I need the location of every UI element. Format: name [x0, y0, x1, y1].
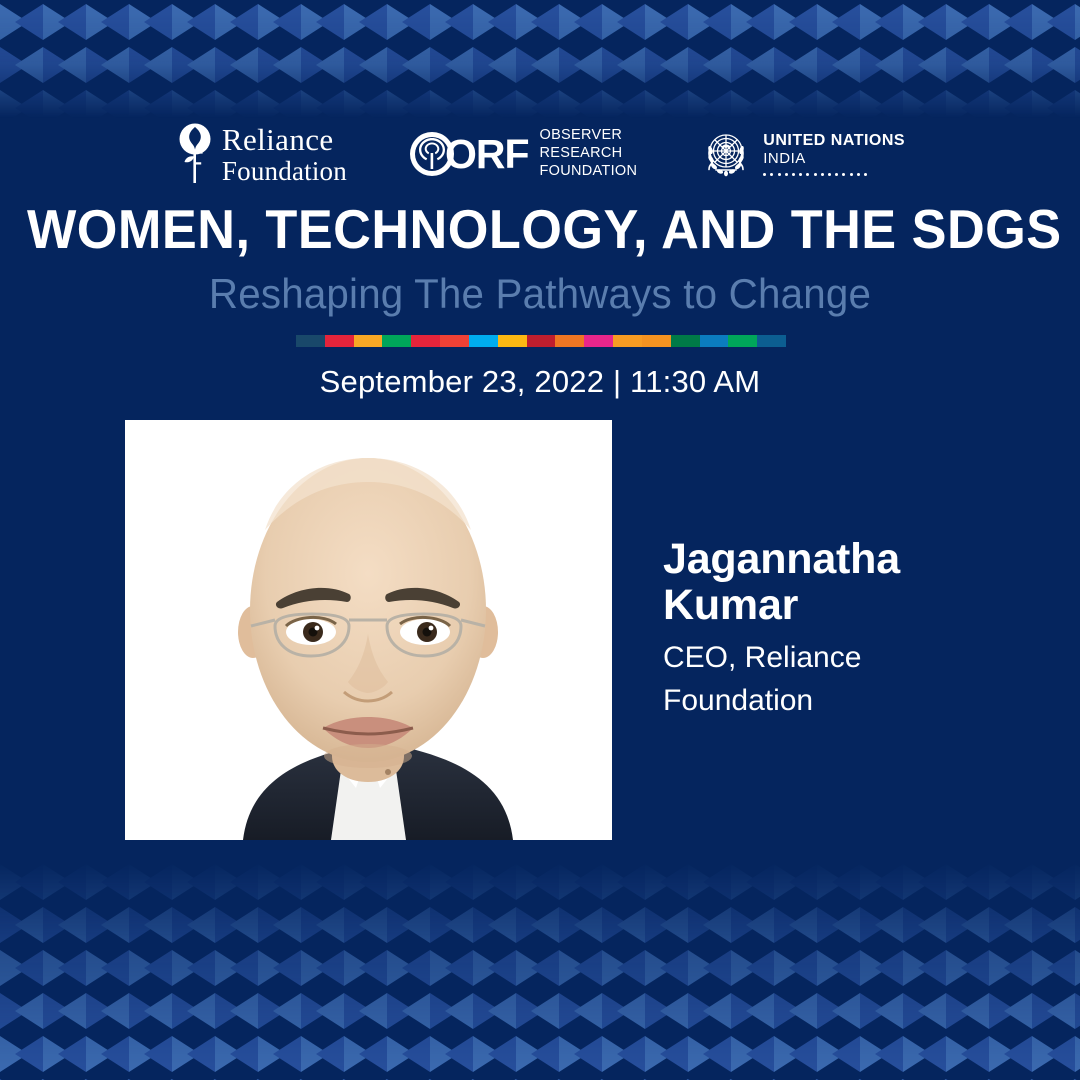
sdg-color-segment-9: [527, 335, 556, 347]
event-poster: Reliance Foundation ORF OBSERVER RESEARC…: [0, 0, 1080, 1080]
un-dot: [842, 173, 845, 176]
event-datetime: September 23, 2022 | 11:30 AM: [0, 364, 1080, 400]
speaker-details: Jagannatha Kumar CEO, Reliance Foundatio…: [663, 536, 1063, 722]
sdg-color-segment-16: [728, 335, 757, 347]
logo-observer-research-foundation: ORF OBSERVER RESEARCH FOUNDATION: [409, 127, 637, 180]
speaker-photo: [125, 420, 612, 840]
un-dot: [864, 173, 867, 176]
logo-reliance-foundation: Reliance Foundation: [175, 123, 347, 185]
un-dot: [806, 173, 809, 176]
reliance-logo-line2: Foundation: [222, 158, 347, 185]
triangle-pattern-bottom: [0, 860, 1080, 1080]
un-dot: [828, 173, 831, 176]
sdg-color-segment-10: [555, 335, 584, 347]
un-dot: [785, 173, 788, 176]
un-dot-rule: [763, 173, 905, 176]
triangle-pattern-top: [0, 0, 1080, 118]
speaker-role: CEO, Reliance Foundation: [663, 637, 1063, 722]
partner-logos: Reliance Foundation ORF OBSERVER RESEARC…: [0, 118, 1080, 190]
sdg-color-segment-4: [382, 335, 411, 347]
reliance-flame-icon: [175, 123, 215, 185]
sdg-color-segment-5: [411, 335, 440, 347]
un-dot: [770, 173, 773, 176]
orf-letters: ORF: [445, 134, 529, 175]
orf-wordmark: OBSERVER RESEARCH FOUNDATION: [539, 127, 637, 180]
sdg-color-segment-7: [469, 335, 498, 347]
speaker-role-line1: CEO, Reliance: [663, 637, 1063, 680]
un-dot: [799, 173, 802, 176]
sdg-color-segment-13: [642, 335, 671, 347]
sdg-color-segment-1: [296, 335, 325, 347]
un-dot: [850, 173, 853, 176]
poster-title: WOMEN, TECHNOLOGY, AND THE SDGS: [27, 197, 1053, 261]
un-emblem-icon: [699, 128, 753, 180]
sdg-color-segment-2: [325, 335, 354, 347]
un-dot: [763, 173, 766, 176]
un-dot: [821, 173, 824, 176]
orf-line2: RESEARCH: [539, 145, 637, 163]
logo-united-nations-india: UNITED NATIONS INDIA: [699, 128, 905, 180]
sdg-color-bar: [296, 335, 786, 347]
un-dot: [814, 173, 817, 176]
sdg-color-segment-14: [671, 335, 700, 347]
orf-line3: FOUNDATION: [539, 163, 637, 181]
un-wordmark: UNITED NATIONS INDIA: [763, 132, 905, 175]
un-dot: [835, 173, 838, 176]
sdg-color-segment-15: [700, 335, 729, 347]
un-dot: [857, 173, 860, 176]
un-line1: UNITED NATIONS: [763, 132, 905, 150]
reliance-logo-line1: Reliance: [222, 124, 347, 155]
sdg-color-segment-8: [498, 335, 527, 347]
sdg-color-segment-17: [757, 335, 786, 347]
orf-line1: OBSERVER: [539, 127, 637, 145]
sdg-color-segment-11: [584, 335, 613, 347]
speaker-name: Jagannatha Kumar: [663, 536, 1063, 628]
speaker-name-line1: Jagannatha: [663, 536, 1063, 582]
poster-subtitle: Reshaping The Pathways to Change: [22, 270, 1059, 318]
sdg-color-segment-3: [354, 335, 383, 347]
un-dot: [792, 173, 795, 176]
speaker-name-line2: Kumar: [663, 582, 1063, 628]
speaker-role-line2: Foundation: [663, 680, 1063, 723]
un-line2: INDIA: [763, 151, 905, 168]
sdg-color-segment-6: [440, 335, 469, 347]
sdg-color-segment-12: [613, 335, 642, 347]
un-dot: [778, 173, 781, 176]
